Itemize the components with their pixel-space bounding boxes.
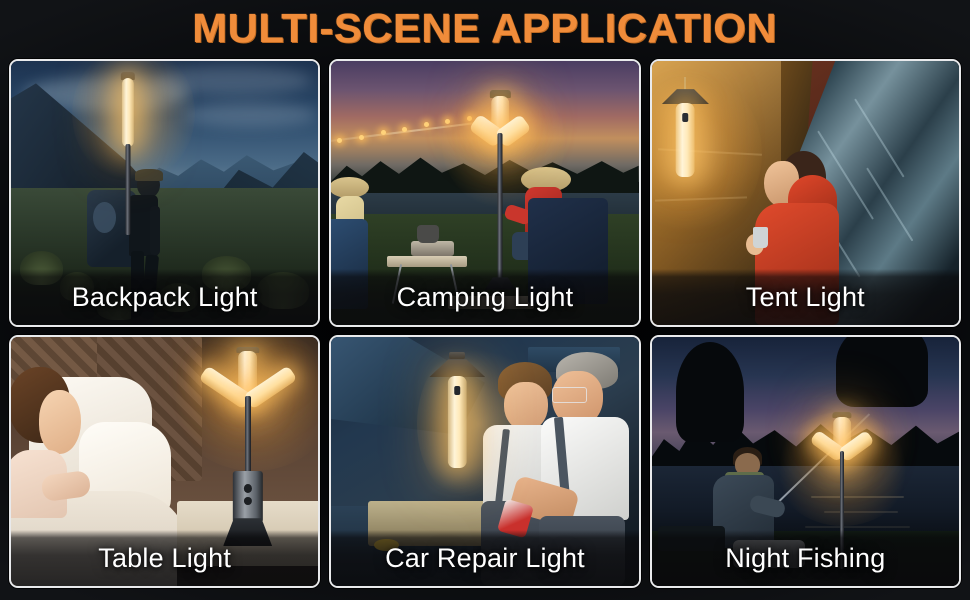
lamp-car-repair [427, 352, 488, 501]
legs [733, 540, 806, 568]
page-title: MULTI-SCENE APPLICATION [193, 5, 778, 52]
lamp-tube [122, 78, 134, 147]
lamp-table [189, 347, 306, 561]
cloud [183, 103, 318, 127]
scene-backpack-light [11, 61, 318, 325]
tree-silhouette [836, 337, 928, 407]
torso [755, 203, 839, 325]
kettle [417, 225, 439, 243]
gear-bag [658, 526, 726, 551]
lamp-pole [125, 144, 130, 236]
panel-table-light[interactable]: Table Light [9, 335, 320, 588]
string-bulb [402, 127, 407, 132]
angler-figure [707, 447, 805, 576]
panel-backpack-light[interactable]: Backpack Light [9, 59, 320, 327]
panel-camping-light[interactable]: Camping Light [329, 59, 640, 327]
hang-cord [684, 77, 686, 91]
lamp-button [455, 386, 461, 395]
lamp-base [485, 277, 516, 289]
lamp-backpack [100, 72, 155, 236]
lamp-base [223, 518, 272, 546]
grass-tuft [257, 272, 309, 309]
string-bulb [424, 122, 429, 127]
lamp-pole [840, 451, 844, 569]
mechanic-older [534, 352, 639, 586]
lamp-shade [429, 359, 486, 377]
lamp-night-fishing [805, 412, 879, 576]
scene-car-repair-light [331, 337, 638, 586]
lamp-hook [449, 352, 465, 359]
overalls [539, 516, 625, 586]
scene-tent-light [652, 61, 959, 325]
camp-chair-right [528, 198, 608, 304]
tree-silhouette [676, 342, 744, 442]
lamp-button [244, 497, 252, 506]
camp-table-front [448, 296, 534, 309]
camp-chair-left [331, 219, 368, 309]
panel-tent-light[interactable]: Tent Light [650, 59, 961, 327]
woman-figure [744, 151, 855, 325]
grass-tuft [20, 251, 63, 285]
woman-figure [11, 367, 146, 556]
scene-table-light [11, 337, 318, 586]
lamp-pole [498, 133, 503, 281]
lamp-button [244, 484, 252, 493]
cup [753, 227, 768, 248]
string-bulb [359, 135, 364, 140]
poster-header: MULTI-SCENE APPLICATION [0, 0, 970, 56]
lamp-pole [245, 396, 251, 477]
lamp-tent [658, 77, 713, 214]
panel-night-fishing[interactable]: Night Fishing [650, 335, 961, 588]
panel-car-repair-light[interactable]: Car Repair Light [329, 335, 640, 588]
scene-camping-light [331, 61, 638, 325]
string-bulb [381, 130, 386, 135]
poster-root: MULTI-SCENE APPLICATION [0, 0, 970, 600]
lamp-button [683, 113, 689, 123]
scene-grid: Backpack Light [9, 59, 961, 588]
camp-table [387, 256, 467, 267]
grass-tuft [202, 256, 251, 290]
scene-night-fishing [652, 337, 959, 586]
oil-cap [374, 539, 399, 551]
glasses [552, 387, 587, 403]
lamp-camping [467, 90, 535, 296]
face [39, 390, 81, 454]
